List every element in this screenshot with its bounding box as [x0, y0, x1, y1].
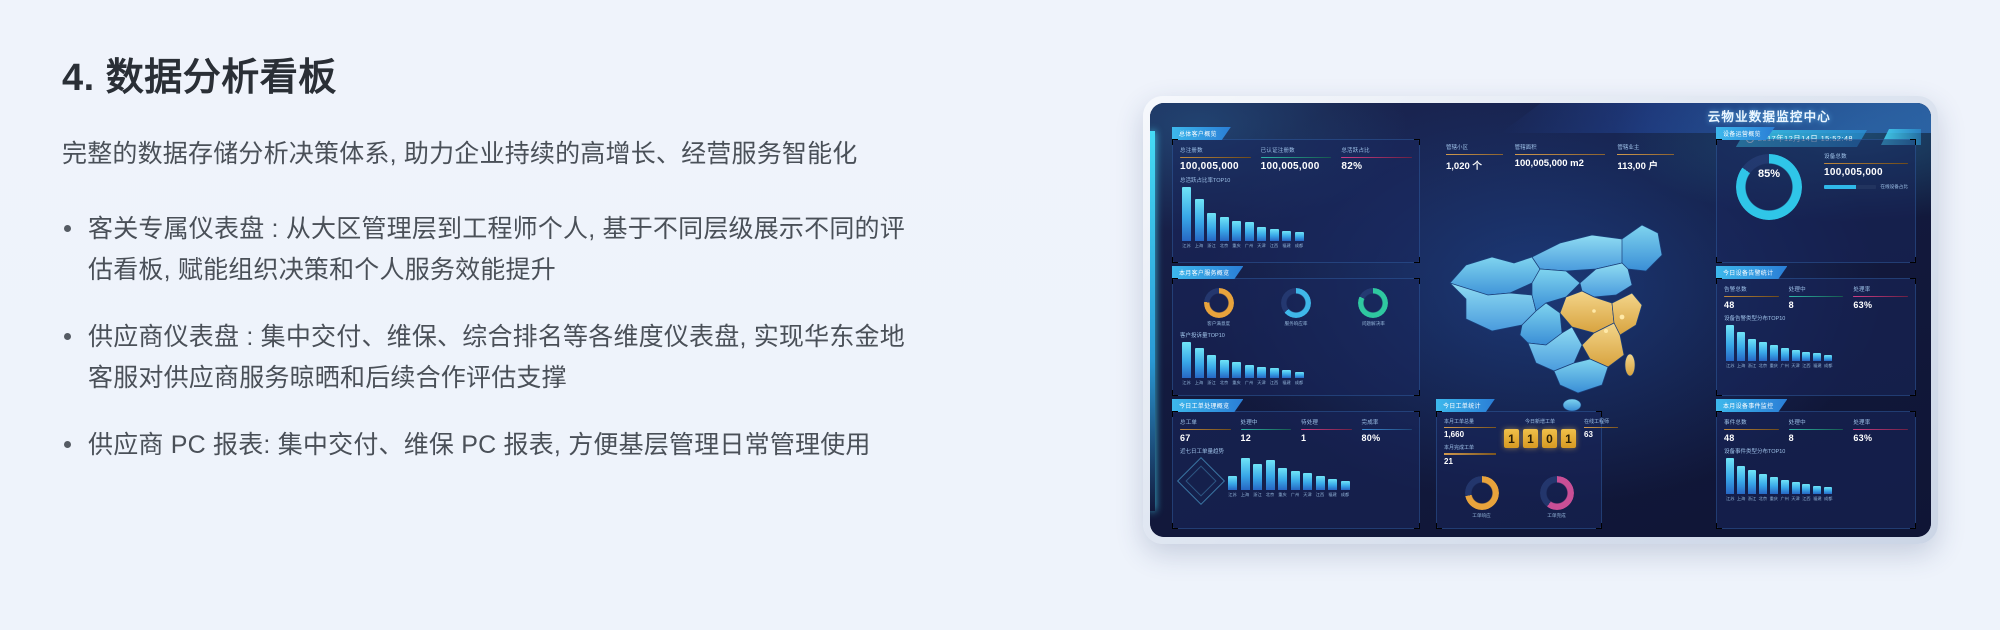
kpi-value: 1,020 个	[1446, 158, 1503, 172]
donut-row: 工单响应 工单完成	[1444, 466, 1594, 519]
dashboard-header: 云物业数据监控中心 2017年12月14日 15:52:48	[1150, 103, 1931, 137]
kpi-card: 管辖小区 1,020 个	[1446, 143, 1503, 172]
kpi-label: 管辖面积	[1515, 143, 1606, 151]
donut-label: 工单完成	[1540, 513, 1574, 519]
kpi-rule	[1789, 296, 1844, 298]
health-gauge	[1736, 154, 1802, 220]
kpi-row: 总工单 67 处理中 12 待处理	[1180, 418, 1412, 443]
kpi-rule	[1341, 157, 1412, 159]
digit-tile: 1	[1523, 429, 1538, 448]
donut-label: 问题解决率	[1358, 321, 1388, 327]
donut-gauge: 问题解决率	[1358, 288, 1388, 327]
kpi-rule	[1724, 296, 1779, 298]
kpi-value: 48	[1724, 433, 1779, 443]
stat-rule	[1584, 427, 1618, 428]
donut-gauge: 工单完成	[1540, 476, 1574, 519]
kpi-value: 1	[1301, 433, 1352, 443]
panel-tab-label: 本月设备事件监控	[1716, 399, 1787, 412]
kpi-value: 48	[1724, 300, 1779, 310]
stat-value: 21	[1444, 457, 1496, 466]
list-item: 客关专属仪表盘 : 从大区管理层到工程师个人, 基于不同层级展示不同的评估看板,…	[62, 209, 922, 290]
kpi-rule	[1261, 157, 1332, 159]
kpi-card: 事件总数 48	[1724, 418, 1779, 443]
digit-tile: 1	[1504, 429, 1519, 448]
kpi-value: 100,005,000 m2	[1515, 158, 1606, 169]
kpi-card: 总活跃占比 82%	[1341, 146, 1412, 172]
kpi-rule	[1362, 429, 1413, 431]
donut-gauge: 客户满意度	[1204, 288, 1234, 327]
left-edge-accent	[1150, 131, 1155, 511]
donut-label: 客户满意度	[1204, 321, 1234, 327]
stat-rule	[1444, 453, 1496, 454]
dashboard-device-frame: 云物业数据监控中心 2017年12月14日 15:52:48 总体客户概览	[1143, 96, 1938, 544]
panel-tab-label: 总体客户概览	[1172, 127, 1231, 140]
stat-value: 1,660	[1444, 430, 1496, 439]
kpi-card: 总工单 67	[1180, 418, 1231, 443]
digit-tile: 0	[1542, 429, 1557, 448]
panel-service-overview: 本月客户服务概览 客户满意度 服务响应率	[1172, 278, 1420, 396]
donut-gauge: 工单响应	[1465, 476, 1499, 519]
kpi-value: 8	[1789, 300, 1844, 310]
kpi-label: 完成率	[1362, 418, 1413, 426]
stat-label: 本月完成工单	[1444, 444, 1496, 451]
legend-row: 在线设备占比	[1824, 184, 1908, 190]
chart-caption: 客户投诉量TOP10	[1180, 331, 1412, 339]
panel-tab-label: 本月客户服务概览	[1172, 266, 1243, 279]
kpi-label: 处理率	[1853, 285, 1908, 293]
bullet-dot-icon	[64, 333, 71, 340]
kpi-rule	[1853, 296, 1908, 298]
kpi-label: 管辖业主	[1617, 143, 1674, 151]
kpi-rule	[1617, 154, 1674, 156]
panel-device-alarms: 今日设备告警统计 告警总数 48 处理中	[1716, 278, 1916, 396]
gauge-value: 85%	[1758, 168, 1780, 180]
kpi-row: 总注册数 100,005,000 已认证注册数 100,005,000 总活跃占…	[1180, 146, 1412, 172]
kpi-label: 处理中	[1789, 285, 1844, 293]
panel-body: 总工单 67 处理中 12 待处理	[1173, 412, 1419, 528]
kpi-rule	[1724, 429, 1779, 431]
kpi-card: 处理率 63%	[1853, 285, 1908, 310]
chart-caption: 总活跃占比率TOP10	[1180, 176, 1412, 184]
kpi-card: 完成率 80%	[1362, 418, 1413, 443]
panel-body: 事件总数 48 处理中 8 处理率	[1717, 412, 1915, 528]
kpi-rule	[1180, 429, 1231, 431]
bullet-dot-icon	[64, 441, 71, 448]
kpi-card: 管辖业主 113,00 户	[1617, 143, 1674, 172]
kpi-rule	[1446, 154, 1503, 156]
content-column: 4. 数据分析看板 完整的数据存储分析决策体系, 助力企业持续的高增长、经营服务…	[62, 56, 922, 466]
bar-chart-mid-right: 江苏 上海 浙江 北京 重庆 广州 天津 江西 福建 成都	[1724, 325, 1908, 369]
kpi-card: 待处理 1	[1301, 418, 1352, 443]
list-item: 供应商仪表盘 : 集中交付、维保、综合排名等各维度仪表盘, 实现华东金地客服对供…	[62, 317, 922, 398]
panel-body: 85% 设备健康度 设备总数 100,005,000 在线设备占比	[1717, 140, 1915, 262]
center-kpi-row: 管辖小区 1,020 个 管辖面积 100,005,000 m2 管辖业主 11…	[1446, 143, 1674, 172]
kpi-label: 总注册数	[1180, 146, 1251, 154]
kpi-value: 100,005,000	[1824, 167, 1908, 178]
digit-tile: 1	[1561, 429, 1576, 448]
panel-workorder-stats: 今日工单统计 本月工单总量 1,660 本月完成工单	[1436, 411, 1602, 529]
kpi-rule	[1180, 157, 1251, 159]
kpi-value: 63%	[1853, 300, 1908, 310]
digit-display: 1 1 0 1	[1504, 429, 1576, 448]
panel-customer-overview: 总体客户概览 总注册数 100,005,000	[1172, 139, 1420, 263]
kpi-rule	[1853, 429, 1908, 431]
panel-tab-label: 今日工单处理概览	[1172, 399, 1243, 412]
list-item-text: 客关专属仪表盘 : 从大区管理层到工程师个人, 基于不同层级展示不同的评估看板,…	[88, 215, 905, 284]
legend-bar	[1824, 185, 1876, 189]
section-lead: 完整的数据存储分析决策体系, 助力企业持续的高增长、经营服务智能化	[62, 136, 922, 174]
kpi-label: 事件总数	[1724, 418, 1779, 426]
panel-device-events: 本月设备事件监控 事件总数 48 处理中	[1716, 411, 1916, 529]
kpi-value: 113,00 户	[1617, 158, 1674, 172]
kpi-row: 事件总数 48 处理中 8 处理率	[1724, 418, 1908, 443]
kpi-value: 63%	[1853, 433, 1908, 443]
kpi-value: 80%	[1362, 433, 1413, 443]
kpi-rule	[1241, 429, 1292, 431]
stat-rule	[1444, 427, 1496, 428]
chart-caption: 今日新增工单	[1504, 418, 1576, 425]
list-item-text: 供应商仪表盘 : 集中交付、维保、综合排名等各维度仪表盘, 实现华东金地客服对供…	[88, 323, 905, 392]
kpi-rule	[1824, 163, 1908, 165]
dashboard-mockup: 云物业数据监控中心 2017年12月14日 15:52:48 总体客户概览	[1143, 96, 1938, 544]
kpi-label: 待处理	[1301, 418, 1352, 426]
kpi-row: 告警总数 48 处理中 8 处理率	[1724, 285, 1908, 310]
kpi-label: 告警总数	[1724, 285, 1779, 293]
stat-label: 本月工单总量	[1444, 418, 1496, 425]
kpi-card: 管辖面积 100,005,000 m2	[1515, 143, 1606, 172]
bar-chart-top-left: 江苏 上海 浙江 北京 重庆 广州 天津 江西 福建 成都	[1180, 187, 1412, 249]
kpi-rule	[1789, 429, 1844, 431]
panel-body: 客户满意度 服务响应率 问题解决率 客户投诉量TOP10	[1173, 279, 1419, 395]
dashboard-title: 云物业数据监控中心	[1708, 106, 1831, 125]
kpi-card: 处理中 8	[1789, 418, 1844, 443]
bar-chart-mid-left: 江苏 上海 浙江 北京 重庆 广州 天津 江西 福建 成都	[1180, 342, 1412, 386]
decorative-diamond-icon	[1177, 457, 1225, 505]
kpi-card: 处理中 8	[1789, 285, 1844, 310]
kpi-label: 已认证注册数	[1261, 146, 1332, 154]
stat-value: 63	[1584, 430, 1618, 439]
page-title: 4. 数据分析看板	[62, 56, 922, 102]
kpi-value: 100,005,000	[1261, 161, 1332, 172]
kpi-card: 总注册数 100,005,000	[1180, 146, 1251, 172]
panel-device-overview: 设备运营概览 85% 设备健康度	[1716, 139, 1916, 263]
bar-chart-bottom-left: 江苏 上海 浙江 北京 重庆 广州 天津 江西 福建 成都	[1226, 458, 1350, 498]
kpi-label: 总活跃占比	[1341, 146, 1412, 154]
kpi-card: 处理率 63%	[1853, 418, 1908, 443]
kpi-label: 总工单	[1180, 418, 1231, 426]
panel-tab-label: 设备运营概览	[1716, 127, 1775, 140]
list-item-text: 供应商 PC 报表: 集中交付、维保 PC 报表, 方便基层管理日常管理使用	[88, 431, 871, 459]
kpi-rule	[1515, 154, 1606, 156]
kpi-label: 处理中	[1241, 418, 1292, 426]
kpi-value: 8	[1789, 433, 1844, 443]
list-item: 供应商 PC 报表: 集中交付、维保 PC 报表, 方便基层管理日常管理使用	[62, 425, 922, 466]
feature-list: 客关专属仪表盘 : 从大区管理层到工程师个人, 基于不同层级展示不同的评估看板,…	[62, 209, 922, 466]
kpi-card: 处理中 12	[1241, 418, 1292, 443]
bar-chart-bottom-right: 江苏 上海 浙江 北京 重庆 广州 天津 江西 福建 成都	[1724, 458, 1908, 502]
panel-tab-label: 今日设备告警统计	[1716, 266, 1787, 279]
kpi-label: 管辖小区	[1446, 143, 1503, 151]
donut-label: 服务响应率	[1281, 321, 1311, 327]
legend-label: 在线设备占比	[1880, 184, 1908, 190]
panel-tab-label: 今日工单统计	[1436, 399, 1495, 412]
kpi-value: 82%	[1341, 161, 1412, 172]
kpi-label: 处理率	[1853, 418, 1908, 426]
panel-body: 总注册数 100,005,000 已认证注册数 100,005,000 总活跃占…	[1173, 140, 1419, 262]
donut-row: 客户满意度 服务响应率 问题解决率	[1180, 285, 1412, 327]
bullet-dot-icon	[64, 225, 71, 232]
stat-label: 在线工程师	[1584, 418, 1618, 425]
kpi-card: 已认证注册数 100,005,000	[1261, 146, 1332, 172]
kpi-label: 处理中	[1789, 418, 1844, 426]
chart-caption: 设备告警类型分布TOP10	[1724, 314, 1908, 322]
panel-workorder-today: 今日工单处理概览 总工单 67 处理中	[1172, 411, 1420, 529]
donut-gauge: 服务响应率	[1281, 288, 1311, 327]
chart-caption: 近七日工单量趋势	[1180, 447, 1412, 455]
dashboard-screen: 云物业数据监控中心 2017年12月14日 15:52:48 总体客户概览	[1150, 103, 1931, 537]
kpi-rule	[1301, 429, 1352, 431]
panel-body: 告警总数 48 处理中 8 处理率	[1717, 279, 1915, 395]
panel-body: 本月工单总量 1,660 本月完成工单 21 今日新增工单 1	[1437, 412, 1601, 528]
kpi-value: 100,005,000	[1180, 161, 1251, 172]
chart-caption: 设备事件类型分布TOP10	[1724, 447, 1908, 455]
kpi-value: 67	[1180, 433, 1231, 443]
kpi-value: 12	[1241, 433, 1292, 443]
donut-label: 工单响应	[1465, 513, 1499, 519]
kpi-label: 设备总数	[1824, 152, 1908, 160]
kpi-card: 告警总数 48	[1724, 285, 1779, 310]
slide-page: 4. 数据分析看板 完整的数据存储分析决策体系, 助力企业持续的高增长、经营服务…	[0, 0, 2000, 630]
